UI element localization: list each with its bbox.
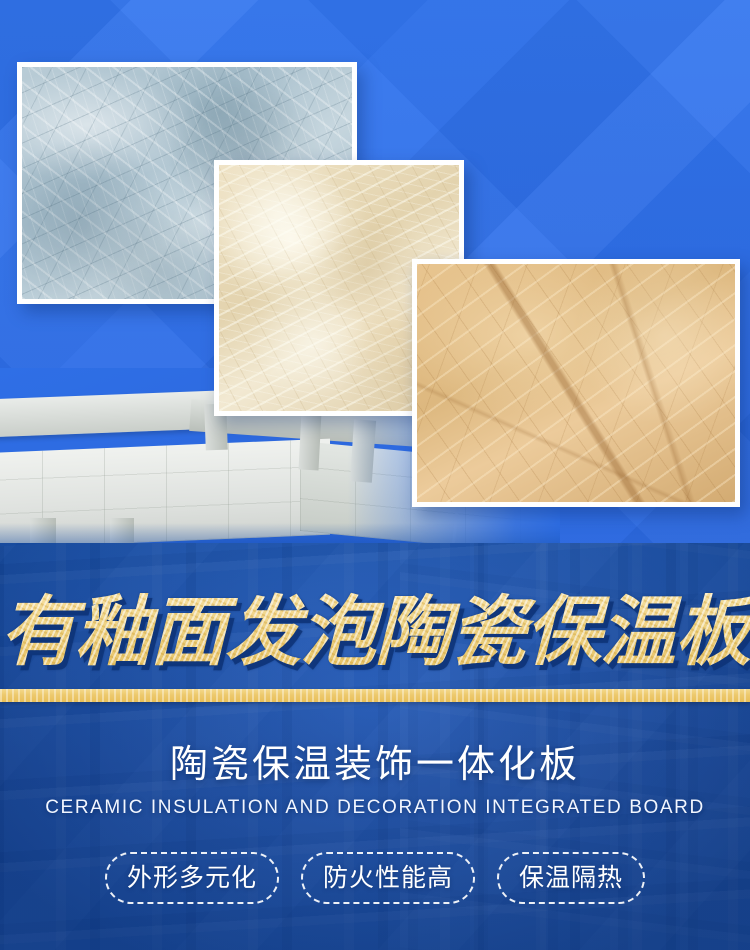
page-title: 有釉面发泡陶瓷保温板 (0, 592, 750, 672)
feature-badge-list: 外形多元化 防火性能高 保温隔热 (0, 852, 750, 904)
subtitle-chinese: 陶瓷保温装饰一体化板 (0, 742, 750, 786)
tan-marble-tile[interactable] (412, 259, 740, 507)
subtitle-english: CERAMIC INSULATION AND DECORATION INTEGR… (0, 796, 750, 820)
feature-badge-fireproof[interactable]: 防火性能高 (301, 852, 475, 904)
feature-badge-insulation[interactable]: 保温隔热 (497, 852, 645, 904)
feature-badge-shape[interactable]: 外形多元化 (105, 852, 279, 904)
gold-divider (0, 689, 750, 702)
poster-canvas: 有釉面发泡陶瓷保温板 陶瓷保温装饰一体化板 CERAMIC INSULATION… (0, 0, 750, 950)
tile-texture (417, 264, 735, 502)
